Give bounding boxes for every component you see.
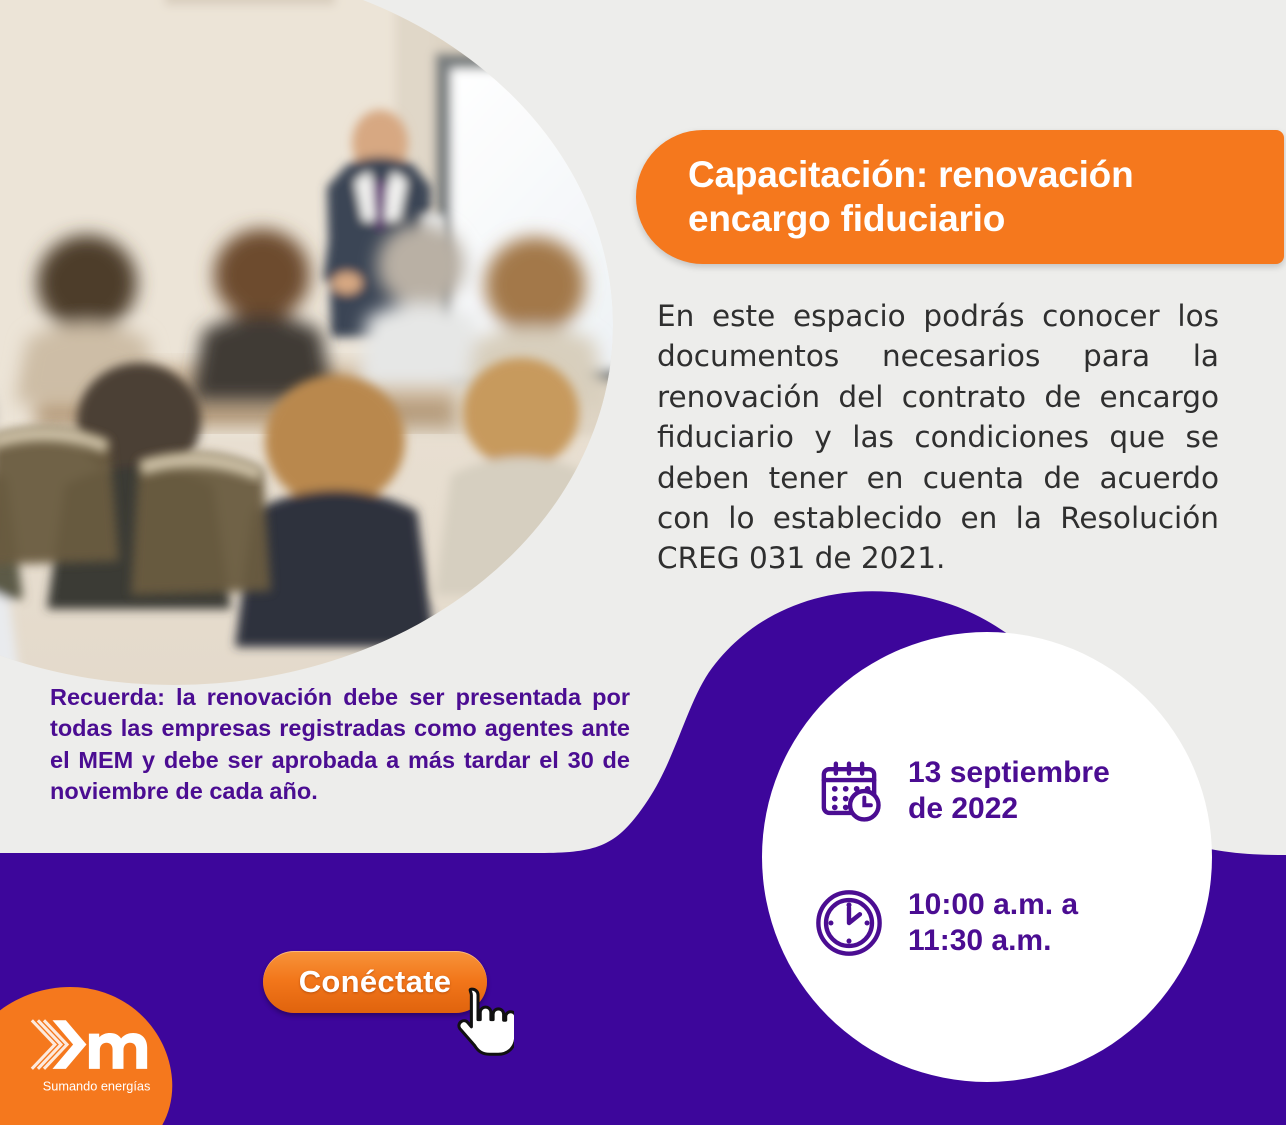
event-date-line-2: de 2022 [908, 792, 1018, 825]
xm-logo-mark: Sumando energías [28, 1013, 168, 1101]
conference-photo [0, 0, 613, 685]
reminder-paragraph: Recuerda: la renovación debe ser present… [50, 682, 630, 807]
logo-tagline: Sumando energías [43, 1079, 151, 1094]
title-line-1: Capacitación: renovación [688, 154, 1134, 195]
pointing-hand-cursor-icon [452, 985, 514, 1057]
title-line-2: encargo fiduciario [688, 198, 1005, 239]
photo-illustration [0, 0, 613, 685]
event-date-text: 13 septiembre de 2022 [908, 755, 1110, 827]
description-paragraph: En este espacio podrás conocer los docum… [657, 296, 1219, 579]
page-title: Capacitación: renovación encargo fiducia… [636, 153, 1156, 240]
poster-canvas: Capacitación: renovación encargo fiducia… [0, 0, 1286, 1125]
title-banner: Capacitación: renovación encargo fiducia… [636, 130, 1284, 264]
event-details-circle: 13 septiembre de 2022 10:00 a.m. a 11:30… [762, 632, 1212, 1082]
event-date-line-1: 13 septiembre [908, 756, 1110, 789]
conectate-button-label: Conéctate [299, 964, 452, 1000]
clock-icon [814, 888, 884, 958]
event-time-line-1: 10:00 a.m. a [908, 888, 1078, 921]
calendar-clock-icon [814, 756, 884, 826]
event-time-row: 10:00 a.m. a 11:30 a.m. [814, 887, 1212, 959]
event-date-row: 13 septiembre de 2022 [814, 755, 1212, 827]
event-time-line-2: 11:30 a.m. [908, 924, 1051, 957]
event-time-text: 10:00 a.m. a 11:30 a.m. [908, 887, 1078, 959]
